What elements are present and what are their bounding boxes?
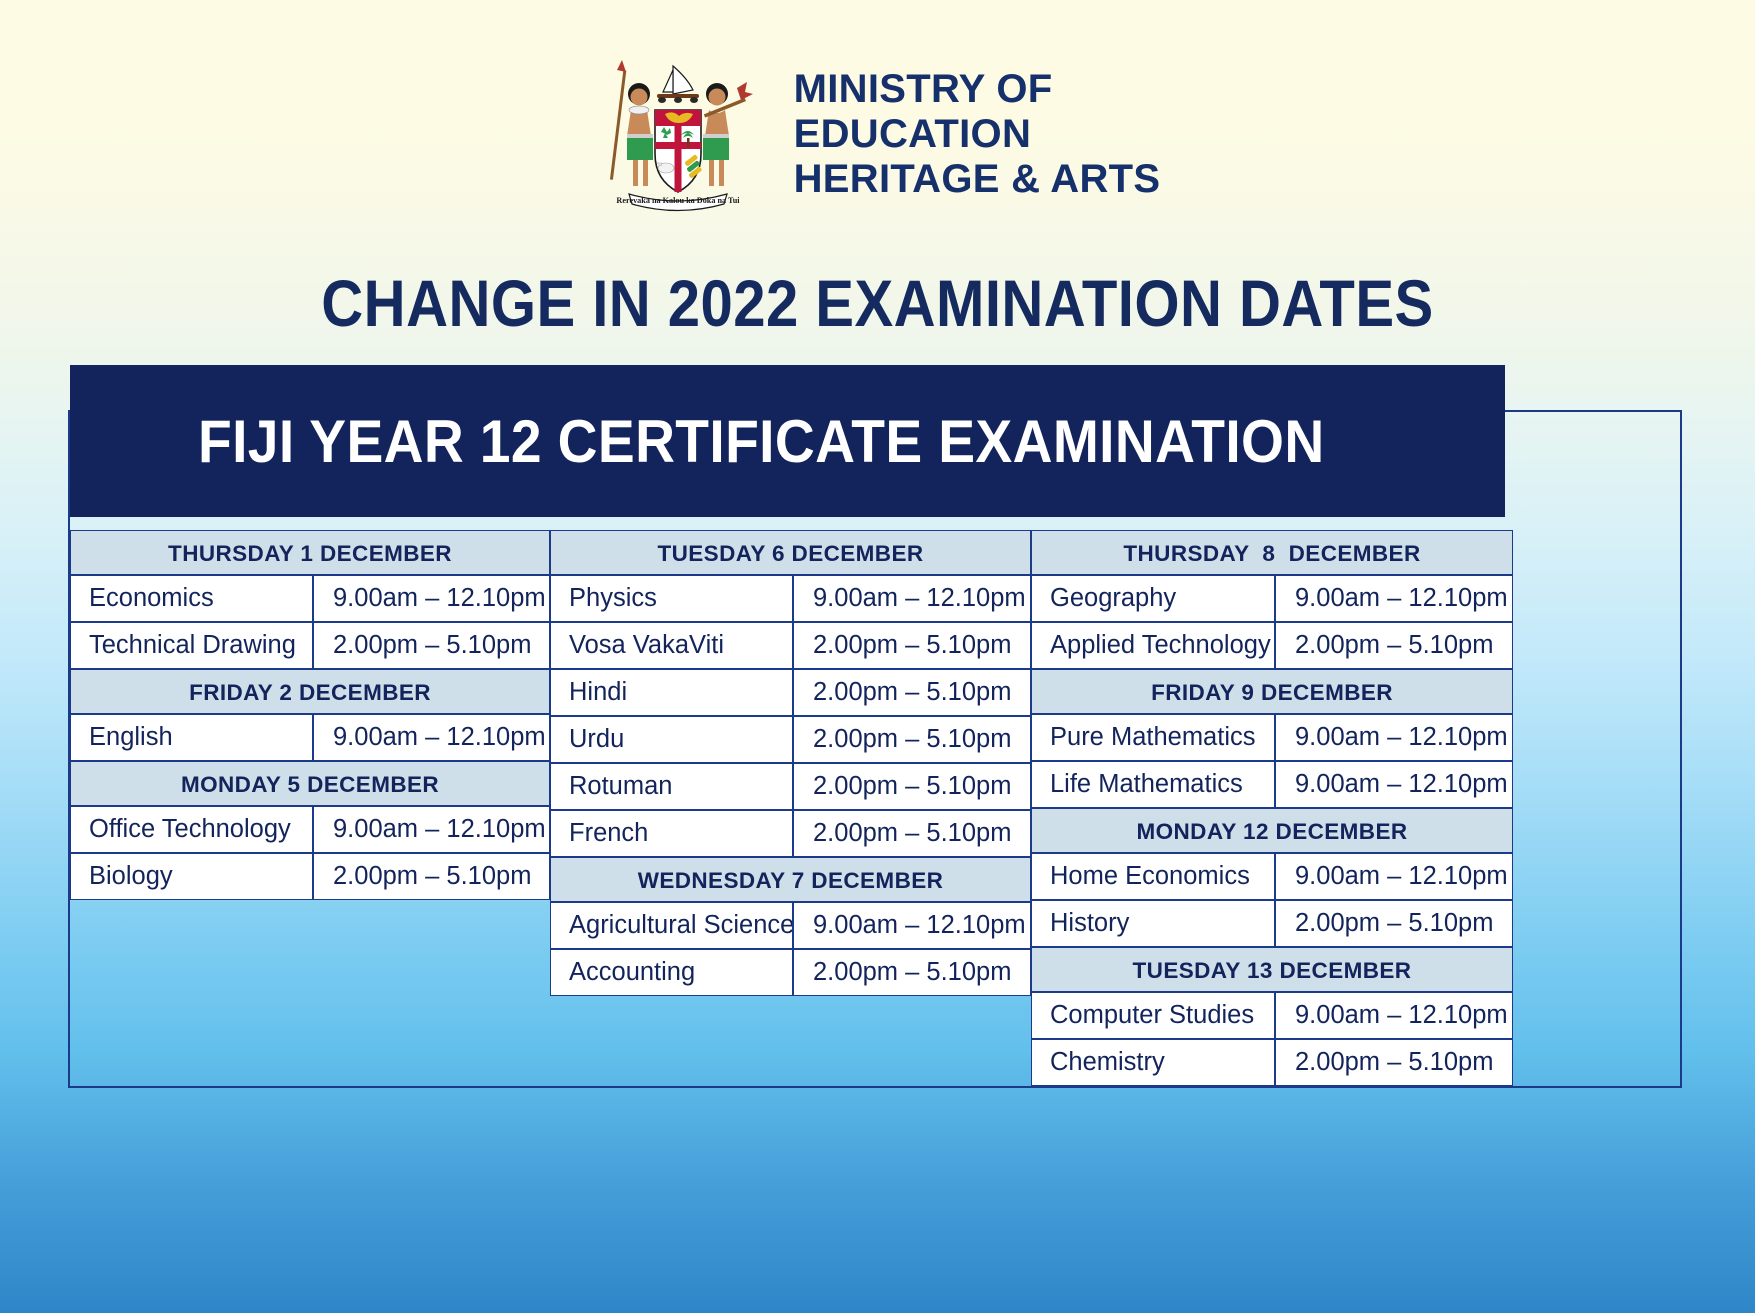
day-header: MONDAY 5 DECEMBER	[70, 761, 550, 806]
subject-cell: Accounting	[550, 949, 793, 996]
time-cell: 2.00pm – 5.10pm	[793, 949, 1031, 996]
time-cell: 2.00pm – 5.10pm	[1275, 900, 1513, 947]
subject-cell: Life Mathematics	[1031, 761, 1275, 808]
day-header: TUESDAY 6 DECEMBER	[550, 530, 1031, 575]
time-cell: 2.00pm – 5.10pm	[793, 622, 1031, 669]
day-header: TUESDAY 13 DECEMBER	[1031, 947, 1513, 992]
page-title: CHANGE IN 2022 EXAMINATION DATES	[105, 265, 1649, 341]
subject-cell: Economics	[70, 575, 313, 622]
table-row: Office Technology9.00am – 12.10pm	[70, 806, 550, 853]
subject-cell: Applied Technology	[1031, 622, 1275, 669]
day-header: WEDNESDAY 7 DECEMBER	[550, 857, 1031, 902]
time-cell: 9.00am – 12.10pm	[313, 714, 550, 761]
table-row: Physics9.00am – 12.10pm	[550, 575, 1031, 622]
exam-schedule-grid: THURSDAY 1 DECEMBEREconomics9.00am – 12.…	[70, 530, 1680, 1086]
table-row: Applied Technology2.00pm – 5.10pm	[1031, 622, 1513, 669]
time-cell: 9.00am – 12.10pm	[1275, 761, 1513, 808]
subject-cell: Physics	[550, 575, 793, 622]
table-row: Vosa VakaViti2.00pm – 5.10pm	[550, 622, 1031, 669]
ministry-line-3: HERITAGE & ARTS	[794, 157, 1161, 202]
schedule-column-2: TUESDAY 6 DECEMBERPhysics9.00am – 12.10p…	[550, 530, 1031, 1086]
ministry-line-2: EDUCATION	[794, 112, 1161, 157]
ministry-header: Rerevaka na Kalou ka Doka na Tui MINISTR…	[0, 52, 1755, 217]
subject-cell: French	[550, 810, 793, 857]
table-row: Home Economics9.00am – 12.10pm	[1031, 853, 1513, 900]
table-row: Chemistry2.00pm – 5.10pm	[1031, 1039, 1513, 1086]
time-cell: 2.00pm – 5.10pm	[1275, 622, 1513, 669]
time-cell: 9.00am – 12.10pm	[1275, 575, 1513, 622]
subject-cell: Office Technology	[70, 806, 313, 853]
subject-cell: Urdu	[550, 716, 793, 763]
subject-cell: Hindi	[550, 669, 793, 716]
subject-cell: English	[70, 714, 313, 761]
subject-cell: Rotuman	[550, 763, 793, 810]
day-header: MONDAY 12 DECEMBER	[1031, 808, 1513, 853]
time-cell: 9.00am – 12.10pm	[793, 575, 1031, 622]
schedule-column-1: THURSDAY 1 DECEMBEREconomics9.00am – 12.…	[70, 530, 550, 1086]
time-cell: 9.00am – 12.10pm	[1275, 853, 1513, 900]
table-row: Hindi2.00pm – 5.10pm	[550, 669, 1031, 716]
subject-cell: Computer Studies	[1031, 992, 1275, 1039]
time-cell: 9.00am – 12.10pm	[793, 902, 1031, 949]
exam-title-band: FIJI YEAR 12 CERTIFICATE EXAMINATION	[70, 365, 1505, 517]
fiji-coat-of-arms-icon: Rerevaka na Kalou ka Doka na Tui	[595, 52, 760, 217]
table-row: Geography9.00am – 12.10pm	[1031, 575, 1513, 622]
exam-title: FIJI YEAR 12 CERTIFICATE EXAMINATION	[198, 407, 1325, 476]
subject-cell: Agricultural Science	[550, 902, 793, 949]
table-row: Accounting2.00pm – 5.10pm	[550, 949, 1031, 996]
table-row: Agricultural Science9.00am – 12.10pm	[550, 902, 1031, 949]
subject-cell: Geography	[1031, 575, 1275, 622]
table-row: History2.00pm – 5.10pm	[1031, 900, 1513, 947]
table-row: English9.00am – 12.10pm	[70, 714, 550, 761]
ministry-name: MINISTRY OF EDUCATION HERITAGE & ARTS	[794, 67, 1161, 201]
table-row: Life Mathematics9.00am – 12.10pm	[1031, 761, 1513, 808]
day-header: THURSDAY 1 DECEMBER	[70, 530, 550, 575]
table-row: Technical Drawing2.00pm – 5.10pm	[70, 622, 550, 669]
table-row: Biology2.00pm – 5.10pm	[70, 853, 550, 900]
subject-cell: Pure Mathematics	[1031, 714, 1275, 761]
time-cell: 9.00am – 12.10pm	[1275, 992, 1513, 1039]
table-row: Computer Studies9.00am – 12.10pm	[1031, 992, 1513, 1039]
day-header: FRIDAY 9 DECEMBER	[1031, 669, 1513, 714]
schedule-column-3: THURSDAY 8 DECEMBERGeography9.00am – 12.…	[1031, 530, 1513, 1086]
day-header: FRIDAY 2 DECEMBER	[70, 669, 550, 714]
time-cell: 2.00pm – 5.10pm	[793, 669, 1031, 716]
subject-cell: Chemistry	[1031, 1039, 1275, 1086]
table-row: Rotuman2.00pm – 5.10pm	[550, 763, 1031, 810]
subject-cell: Vosa VakaViti	[550, 622, 793, 669]
subject-cell: Technical Drawing	[70, 622, 313, 669]
table-row: Economics9.00am – 12.10pm	[70, 575, 550, 622]
time-cell: 2.00pm – 5.10pm	[793, 716, 1031, 763]
time-cell: 2.00pm – 5.10pm	[793, 763, 1031, 810]
ministry-line-1: MINISTRY OF	[794, 67, 1161, 112]
table-row: Pure Mathematics9.00am – 12.10pm	[1031, 714, 1513, 761]
time-cell: 2.00pm – 5.10pm	[793, 810, 1031, 857]
time-cell: 9.00am – 12.10pm	[313, 806, 550, 853]
table-row: French2.00pm – 5.10pm	[550, 810, 1031, 857]
crest-motto: Rerevaka na Kalou ka Doka na Tui	[616, 196, 740, 205]
time-cell: 2.00pm – 5.10pm	[1275, 1039, 1513, 1086]
time-cell: 9.00am – 12.10pm	[313, 575, 550, 622]
subject-cell: History	[1031, 900, 1275, 947]
day-header: THURSDAY 8 DECEMBER	[1031, 530, 1513, 575]
time-cell: 9.00am – 12.10pm	[1275, 714, 1513, 761]
time-cell: 2.00pm – 5.10pm	[313, 622, 550, 669]
subject-cell: Home Economics	[1031, 853, 1275, 900]
table-row: Urdu2.00pm – 5.10pm	[550, 716, 1031, 763]
subject-cell: Biology	[70, 853, 313, 900]
time-cell: 2.00pm – 5.10pm	[313, 853, 550, 900]
